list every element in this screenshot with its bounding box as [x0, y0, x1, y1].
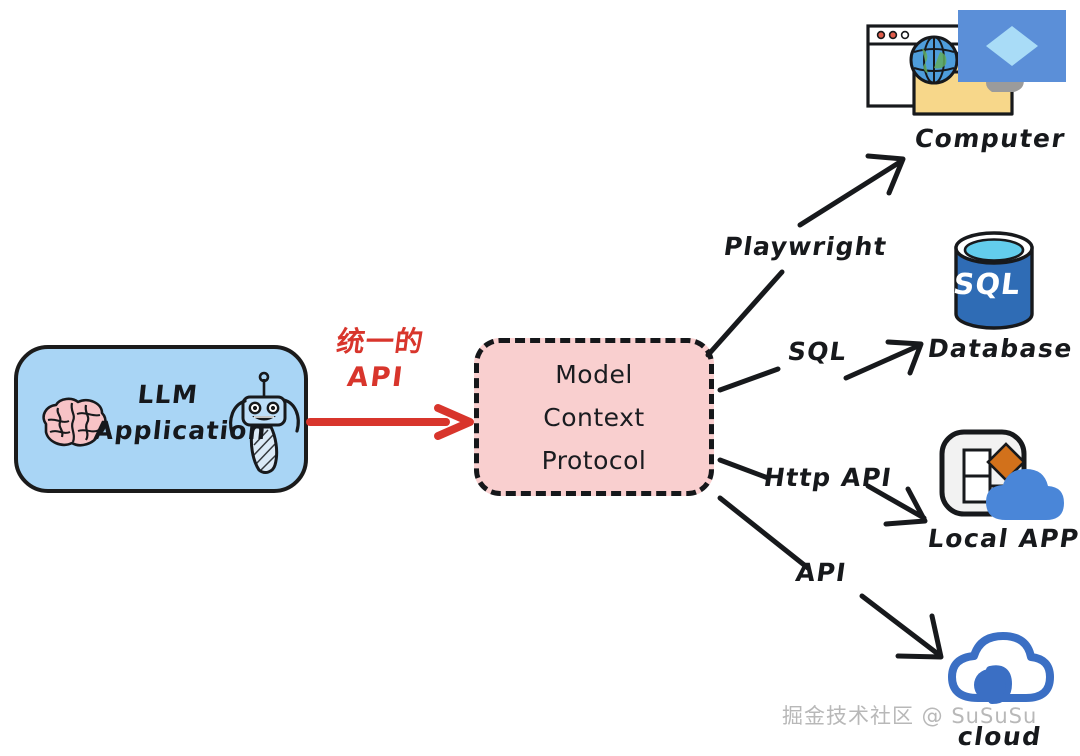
- unified-api-line2: API: [314, 361, 438, 395]
- mcp-line-2: Context: [543, 396, 644, 439]
- llm-application-label: LLM Application: [92, 377, 240, 449]
- watermark: 掘金技术社区 @ SuSuSu: [782, 700, 1037, 730]
- computer-label: Computer: [913, 124, 1068, 153]
- llm-application-node[interactable]: LLM Application: [14, 345, 308, 493]
- app-cloud-icon: [936, 428, 1068, 528]
- local-app-label: Local APP: [926, 524, 1080, 553]
- edge-label-api: API: [794, 558, 849, 587]
- diagram-canvas: LLM Application 统一的 API Model Context Pr…: [0, 0, 1080, 756]
- red-arrow-right-icon: [308, 402, 480, 442]
- svg-text:SQL: SQL: [952, 267, 1023, 301]
- unified-api-line1: 统一的: [318, 325, 442, 359]
- mcp-line-1: Model: [555, 353, 633, 396]
- edge-label-playwright: Playwright: [722, 232, 889, 261]
- mcp-line-3: Protocol: [542, 439, 647, 482]
- unified-api-label: 统一的 API: [314, 325, 443, 395]
- edge-label-http-api: Http API: [762, 463, 894, 492]
- llm-label-line1: LLM: [96, 377, 240, 413]
- llm-label-line2: Application: [92, 413, 236, 449]
- mcp-hub-node[interactable]: Model Context Protocol: [474, 338, 714, 496]
- edge-label-sql: SQL: [786, 337, 849, 366]
- sql-cylinder-icon: SQL: [948, 228, 1040, 338]
- computer-browser-folder-icon: [862, 8, 1072, 126]
- database-label: Database: [926, 334, 1075, 363]
